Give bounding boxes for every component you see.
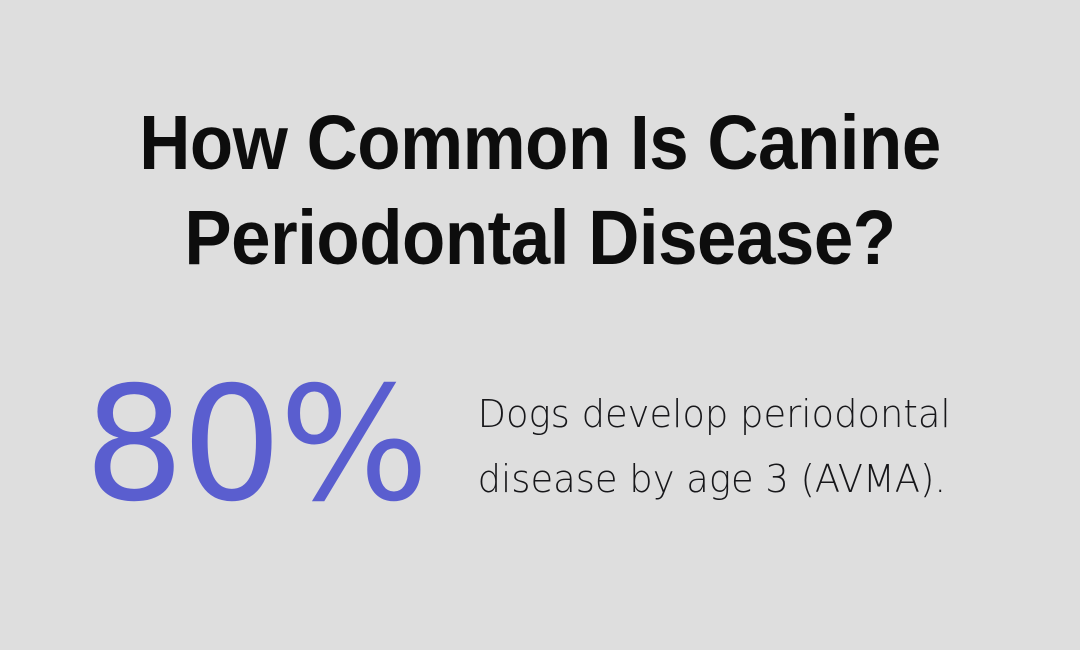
stat-row: 80% Dogs develop periodontal disease by … — [0, 370, 1080, 520]
stat-description: Dogs develop periodontal disease by age … — [400, 370, 982, 512]
page-title: How Common Is Canine Periodontal Disease… — [43, 96, 1037, 286]
stat-value: 80% — [0, 370, 400, 520]
infographic-card: How Common Is Canine Periodontal Disease… — [0, 0, 1080, 650]
